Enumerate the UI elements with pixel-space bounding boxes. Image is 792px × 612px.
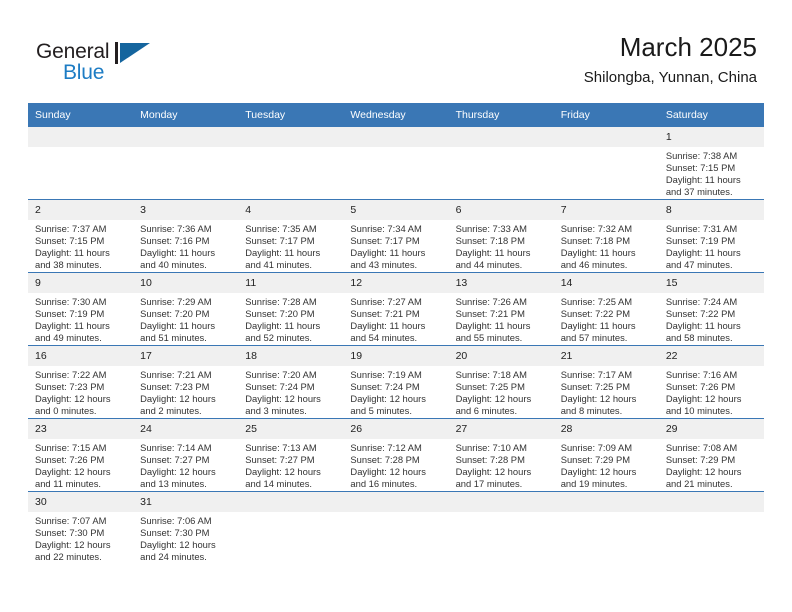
sunrise-text: Sunrise: 7:26 AM bbox=[456, 296, 549, 308]
day-details: Sunrise: 7:24 AMSunset: 7:22 PMDaylight:… bbox=[659, 293, 764, 344]
sunset-text: Sunset: 7:17 PM bbox=[350, 235, 443, 247]
calendar-day-cell[interactable]: 4Sunrise: 7:35 AMSunset: 7:17 PMDaylight… bbox=[238, 200, 343, 273]
sunrise-text: Sunrise: 7:27 AM bbox=[350, 296, 443, 308]
daylight-text-line1: Daylight: 11 hours bbox=[140, 247, 233, 259]
sunrise-text: Sunrise: 7:06 AM bbox=[140, 515, 233, 527]
daylight-text-line1: Daylight: 11 hours bbox=[245, 320, 338, 332]
sunset-text: Sunset: 7:18 PM bbox=[456, 235, 549, 247]
calendar-day-cell[interactable]: 8Sunrise: 7:31 AMSunset: 7:19 PMDaylight… bbox=[659, 200, 764, 273]
daylight-text-line2: and 0 minutes. bbox=[35, 405, 128, 417]
sunrise-text: Sunrise: 7:15 AM bbox=[35, 442, 128, 454]
sunrise-text: Sunrise: 7:10 AM bbox=[456, 442, 549, 454]
logo-text-blue: Blue bbox=[63, 61, 104, 85]
day-number: 7 bbox=[554, 200, 659, 220]
day-details: Sunrise: 7:21 AMSunset: 7:23 PMDaylight:… bbox=[133, 366, 238, 417]
sunset-text: Sunset: 7:24 PM bbox=[245, 381, 338, 393]
sunrise-text: Sunrise: 7:12 AM bbox=[350, 442, 443, 454]
calendar-day-cell[interactable]: 27Sunrise: 7:10 AMSunset: 7:28 PMDayligh… bbox=[449, 419, 554, 492]
day-details: Sunrise: 7:26 AMSunset: 7:21 PMDaylight:… bbox=[449, 293, 554, 344]
daylight-text-line1: Daylight: 11 hours bbox=[456, 247, 549, 259]
calendar-day-cell[interactable]: 19Sunrise: 7:19 AMSunset: 7:24 PMDayligh… bbox=[343, 346, 448, 419]
day-number: 25 bbox=[238, 419, 343, 439]
sunrise-text: Sunrise: 7:09 AM bbox=[561, 442, 654, 454]
sunset-text: Sunset: 7:29 PM bbox=[666, 454, 759, 466]
calendar-day-cell[interactable]: 24Sunrise: 7:14 AMSunset: 7:27 PMDayligh… bbox=[133, 419, 238, 492]
sunrise-text: Sunrise: 7:20 AM bbox=[245, 369, 338, 381]
day-number: 22 bbox=[659, 346, 764, 366]
sunrise-text: Sunrise: 7:18 AM bbox=[456, 369, 549, 381]
daylight-text-line2: and 11 minutes. bbox=[35, 478, 128, 490]
daylight-text-line2: and 38 minutes. bbox=[35, 259, 128, 271]
calendar-body: 1Sunrise: 7:38 AMSunset: 7:15 PMDaylight… bbox=[28, 127, 764, 564]
day-details: Sunrise: 7:07 AMSunset: 7:30 PMDaylight:… bbox=[28, 512, 133, 563]
sunrise-text: Sunrise: 7:35 AM bbox=[245, 223, 338, 235]
sunrise-text: Sunrise: 7:31 AM bbox=[666, 223, 759, 235]
day-number: 10 bbox=[133, 273, 238, 293]
day-number: 11 bbox=[238, 273, 343, 293]
daylight-text-line2: and 17 minutes. bbox=[456, 478, 549, 490]
daylight-text-line1: Daylight: 12 hours bbox=[350, 466, 443, 478]
sunrise-text: Sunrise: 7:22 AM bbox=[35, 369, 128, 381]
sunrise-text: Sunrise: 7:37 AM bbox=[35, 223, 128, 235]
calendar-day-cell-empty bbox=[449, 492, 554, 565]
sunrise-text: Sunrise: 7:07 AM bbox=[35, 515, 128, 527]
day-number: 24 bbox=[133, 419, 238, 439]
sunset-text: Sunset: 7:17 PM bbox=[245, 235, 338, 247]
calendar-day-cell[interactable]: 30Sunrise: 7:07 AMSunset: 7:30 PMDayligh… bbox=[28, 492, 133, 565]
day-details: Sunrise: 7:28 AMSunset: 7:20 PMDaylight:… bbox=[238, 293, 343, 344]
day-number: 30 bbox=[28, 492, 133, 512]
daylight-text-line1: Daylight: 11 hours bbox=[666, 247, 759, 259]
calendar-day-cell[interactable]: 10Sunrise: 7:29 AMSunset: 7:20 PMDayligh… bbox=[133, 273, 238, 346]
calendar-day-cell[interactable]: 26Sunrise: 7:12 AMSunset: 7:28 PMDayligh… bbox=[343, 419, 448, 492]
day-number bbox=[238, 127, 343, 147]
weekday-header-saturday: Saturday bbox=[659, 103, 764, 127]
daylight-text-line1: Daylight: 11 hours bbox=[245, 247, 338, 259]
sunset-text: Sunset: 7:26 PM bbox=[35, 454, 128, 466]
calendar-day-cell-empty bbox=[133, 127, 238, 200]
calendar-page: General Blue March 2025 Shilongba, Yunna… bbox=[0, 0, 792, 612]
sunrise-text: Sunrise: 7:17 AM bbox=[561, 369, 654, 381]
sunrise-text: Sunrise: 7:08 AM bbox=[666, 442, 759, 454]
page-title: March 2025 bbox=[584, 30, 757, 64]
calendar-day-cell[interactable]: 17Sunrise: 7:21 AMSunset: 7:23 PMDayligh… bbox=[133, 346, 238, 419]
sunset-text: Sunset: 7:27 PM bbox=[140, 454, 233, 466]
weekday-header-friday: Friday bbox=[554, 103, 659, 127]
daylight-text-line2: and 40 minutes. bbox=[140, 259, 233, 271]
day-details: Sunrise: 7:17 AMSunset: 7:25 PMDaylight:… bbox=[554, 366, 659, 417]
day-number: 8 bbox=[659, 200, 764, 220]
day-number: 27 bbox=[449, 419, 554, 439]
daylight-text-line1: Daylight: 11 hours bbox=[35, 247, 128, 259]
sunrise-text: Sunrise: 7:38 AM bbox=[666, 150, 759, 162]
daylight-text-line1: Daylight: 12 hours bbox=[350, 393, 443, 405]
sunset-text: Sunset: 7:29 PM bbox=[561, 454, 654, 466]
sunrise-text: Sunrise: 7:33 AM bbox=[456, 223, 549, 235]
daylight-text-line1: Daylight: 11 hours bbox=[350, 320, 443, 332]
calendar-day-cell[interactable]: 15Sunrise: 7:24 AMSunset: 7:22 PMDayligh… bbox=[659, 273, 764, 346]
day-number: 4 bbox=[238, 200, 343, 220]
daylight-text-line1: Daylight: 12 hours bbox=[140, 539, 233, 551]
day-details: Sunrise: 7:14 AMSunset: 7:27 PMDaylight:… bbox=[133, 439, 238, 490]
daylight-text-line2: and 21 minutes. bbox=[666, 478, 759, 490]
calendar-day-cell[interactable]: 25Sunrise: 7:13 AMSunset: 7:27 PMDayligh… bbox=[238, 419, 343, 492]
sunset-text: Sunset: 7:23 PM bbox=[140, 381, 233, 393]
day-details: Sunrise: 7:25 AMSunset: 7:22 PMDaylight:… bbox=[554, 293, 659, 344]
calendar-day-cell-empty bbox=[343, 492, 448, 565]
daylight-text-line2: and 52 minutes. bbox=[245, 332, 338, 344]
sunset-text: Sunset: 7:25 PM bbox=[561, 381, 654, 393]
day-number: 9 bbox=[28, 273, 133, 293]
daylight-text-line2: and 5 minutes. bbox=[350, 405, 443, 417]
daylight-text-line2: and 51 minutes. bbox=[140, 332, 233, 344]
calendar-day-cell[interactable]: 28Sunrise: 7:09 AMSunset: 7:29 PMDayligh… bbox=[554, 419, 659, 492]
day-number: 31 bbox=[133, 492, 238, 512]
daylight-text-line2: and 44 minutes. bbox=[456, 259, 549, 271]
sunset-text: Sunset: 7:27 PM bbox=[245, 454, 338, 466]
daylight-text-line2: and 55 minutes. bbox=[456, 332, 549, 344]
sunrise-text: Sunrise: 7:34 AM bbox=[350, 223, 443, 235]
sunset-text: Sunset: 7:20 PM bbox=[245, 308, 338, 320]
day-details: Sunrise: 7:33 AMSunset: 7:18 PMDaylight:… bbox=[449, 220, 554, 271]
sunrise-text: Sunrise: 7:36 AM bbox=[140, 223, 233, 235]
day-number bbox=[554, 127, 659, 147]
day-details: Sunrise: 7:27 AMSunset: 7:21 PMDaylight:… bbox=[343, 293, 448, 344]
sunset-text: Sunset: 7:25 PM bbox=[456, 381, 549, 393]
day-details: Sunrise: 7:06 AMSunset: 7:30 PMDaylight:… bbox=[133, 512, 238, 563]
day-details: Sunrise: 7:08 AMSunset: 7:29 PMDaylight:… bbox=[659, 439, 764, 490]
daylight-text-line1: Daylight: 12 hours bbox=[245, 393, 338, 405]
day-number: 28 bbox=[554, 419, 659, 439]
daylight-text-line1: Daylight: 11 hours bbox=[140, 320, 233, 332]
sunrise-text: Sunrise: 7:30 AM bbox=[35, 296, 128, 308]
daylight-text-line1: Daylight: 11 hours bbox=[561, 320, 654, 332]
day-number: 12 bbox=[343, 273, 448, 293]
page-subtitle: Shilongba, Yunnan, China bbox=[584, 67, 757, 89]
sunset-text: Sunset: 7:19 PM bbox=[666, 235, 759, 247]
day-details: Sunrise: 7:15 AMSunset: 7:26 PMDaylight:… bbox=[28, 439, 133, 490]
calendar-day-cell-empty bbox=[659, 492, 764, 565]
weekday-header-thursday: Thursday bbox=[449, 103, 554, 127]
day-number: 3 bbox=[133, 200, 238, 220]
daylight-text-line1: Daylight: 11 hours bbox=[35, 320, 128, 332]
weekday-header-wednesday: Wednesday bbox=[343, 103, 448, 127]
daylight-text-line2: and 13 minutes. bbox=[140, 478, 233, 490]
calendar-day-cell[interactable]: 2Sunrise: 7:37 AMSunset: 7:15 PMDaylight… bbox=[28, 200, 133, 273]
daylight-text-line2: and 46 minutes. bbox=[561, 259, 654, 271]
daylight-text-line1: Daylight: 12 hours bbox=[245, 466, 338, 478]
daylight-text-line2: and 8 minutes. bbox=[561, 405, 654, 417]
page-header: General Blue March 2025 Shilongba, Yunna… bbox=[0, 0, 792, 103]
day-number bbox=[133, 127, 238, 147]
daylight-text-line2: and 3 minutes. bbox=[245, 405, 338, 417]
calendar-day-cell[interactable]: 6Sunrise: 7:33 AMSunset: 7:18 PMDaylight… bbox=[449, 200, 554, 273]
calendar-day-cell-empty bbox=[554, 127, 659, 200]
calendar-day-cell-empty bbox=[449, 127, 554, 200]
daylight-text-line1: Daylight: 12 hours bbox=[561, 466, 654, 478]
daylight-text-line1: Daylight: 11 hours bbox=[456, 320, 549, 332]
daylight-text-line1: Daylight: 12 hours bbox=[666, 393, 759, 405]
daylight-text-line1: Daylight: 11 hours bbox=[666, 320, 759, 332]
daylight-text-line1: Daylight: 12 hours bbox=[140, 393, 233, 405]
sunrise-text: Sunrise: 7:28 AM bbox=[245, 296, 338, 308]
calendar-day-cell[interactable]: 1Sunrise: 7:38 AMSunset: 7:15 PMDaylight… bbox=[659, 127, 764, 200]
calendar-day-cell[interactable]: 9Sunrise: 7:30 AMSunset: 7:19 PMDaylight… bbox=[28, 273, 133, 346]
calendar-week-row: 2Sunrise: 7:37 AMSunset: 7:15 PMDaylight… bbox=[28, 200, 764, 273]
day-details: Sunrise: 7:38 AMSunset: 7:15 PMDaylight:… bbox=[659, 147, 764, 198]
daylight-text-line1: Daylight: 12 hours bbox=[561, 393, 654, 405]
daylight-text-line2: and 58 minutes. bbox=[666, 332, 759, 344]
calendar-grid: Sunday Monday Tuesday Wednesday Thursday… bbox=[28, 103, 764, 564]
day-details: Sunrise: 7:22 AMSunset: 7:23 PMDaylight:… bbox=[28, 366, 133, 417]
daylight-text-line1: Daylight: 12 hours bbox=[35, 539, 128, 551]
daylight-text-line2: and 24 minutes. bbox=[140, 551, 233, 563]
day-number bbox=[449, 492, 554, 512]
day-number: 17 bbox=[133, 346, 238, 366]
calendar-day-cell[interactable]: 13Sunrise: 7:26 AMSunset: 7:21 PMDayligh… bbox=[449, 273, 554, 346]
calendar-day-cell[interactable]: 16Sunrise: 7:22 AMSunset: 7:23 PMDayligh… bbox=[28, 346, 133, 419]
day-number: 1 bbox=[659, 127, 764, 147]
sunset-text: Sunset: 7:22 PM bbox=[561, 308, 654, 320]
weekday-header-monday: Monday bbox=[133, 103, 238, 127]
daylight-text-line2: and 49 minutes. bbox=[35, 332, 128, 344]
calendar-day-cell-empty bbox=[554, 492, 659, 565]
calendar-day-cell-empty bbox=[238, 492, 343, 565]
calendar-week-row: 1Sunrise: 7:38 AMSunset: 7:15 PMDaylight… bbox=[28, 127, 764, 200]
day-details: Sunrise: 7:35 AMSunset: 7:17 PMDaylight:… bbox=[238, 220, 343, 271]
day-details: Sunrise: 7:10 AMSunset: 7:28 PMDaylight:… bbox=[449, 439, 554, 490]
day-details: Sunrise: 7:19 AMSunset: 7:24 PMDaylight:… bbox=[343, 366, 448, 417]
sunset-text: Sunset: 7:26 PM bbox=[666, 381, 759, 393]
calendar-week-row: 30Sunrise: 7:07 AMSunset: 7:30 PMDayligh… bbox=[28, 492, 764, 565]
day-number: 20 bbox=[449, 346, 554, 366]
sunset-text: Sunset: 7:19 PM bbox=[35, 308, 128, 320]
calendar-day-cell[interactable]: 5Sunrise: 7:34 AMSunset: 7:17 PMDaylight… bbox=[343, 200, 448, 273]
calendar-day-cell[interactable]: 21Sunrise: 7:17 AMSunset: 7:25 PMDayligh… bbox=[554, 346, 659, 419]
day-number: 15 bbox=[659, 273, 764, 293]
day-number: 23 bbox=[28, 419, 133, 439]
sunset-text: Sunset: 7:30 PM bbox=[35, 527, 128, 539]
calendar-day-cell[interactable]: 23Sunrise: 7:15 AMSunset: 7:26 PMDayligh… bbox=[28, 419, 133, 492]
calendar-day-cell[interactable]: 14Sunrise: 7:25 AMSunset: 7:22 PMDayligh… bbox=[554, 273, 659, 346]
day-details: Sunrise: 7:32 AMSunset: 7:18 PMDaylight:… bbox=[554, 220, 659, 271]
calendar-day-cell[interactable]: 11Sunrise: 7:28 AMSunset: 7:20 PMDayligh… bbox=[238, 273, 343, 346]
day-number bbox=[238, 492, 343, 512]
day-details: Sunrise: 7:29 AMSunset: 7:20 PMDaylight:… bbox=[133, 293, 238, 344]
sunset-text: Sunset: 7:21 PM bbox=[456, 308, 549, 320]
sunset-text: Sunset: 7:15 PM bbox=[666, 162, 759, 174]
day-number: 18 bbox=[238, 346, 343, 366]
daylight-text-line2: and 2 minutes. bbox=[140, 405, 233, 417]
sunrise-text: Sunrise: 7:13 AM bbox=[245, 442, 338, 454]
daylight-text-line2: and 19 minutes. bbox=[561, 478, 654, 490]
calendar-day-cell-empty bbox=[343, 127, 448, 200]
day-details: Sunrise: 7:34 AMSunset: 7:17 PMDaylight:… bbox=[343, 220, 448, 271]
daylight-text-line2: and 37 minutes. bbox=[666, 186, 759, 198]
sunset-text: Sunset: 7:24 PM bbox=[350, 381, 443, 393]
day-number: 14 bbox=[554, 273, 659, 293]
daylight-text-line2: and 41 minutes. bbox=[245, 259, 338, 271]
daylight-text-line1: Daylight: 11 hours bbox=[666, 174, 759, 186]
sunrise-text: Sunrise: 7:16 AM bbox=[666, 369, 759, 381]
daylight-text-line2: and 14 minutes. bbox=[245, 478, 338, 490]
day-number: 19 bbox=[343, 346, 448, 366]
day-details: Sunrise: 7:36 AMSunset: 7:16 PMDaylight:… bbox=[133, 220, 238, 271]
daylight-text-line1: Daylight: 12 hours bbox=[456, 466, 549, 478]
sunrise-text: Sunrise: 7:14 AM bbox=[140, 442, 233, 454]
daylight-text-line1: Daylight: 11 hours bbox=[561, 247, 654, 259]
weekday-header-sunday: Sunday bbox=[28, 103, 133, 127]
sunset-text: Sunset: 7:18 PM bbox=[561, 235, 654, 247]
day-details: Sunrise: 7:13 AMSunset: 7:27 PMDaylight:… bbox=[238, 439, 343, 490]
day-details: Sunrise: 7:12 AMSunset: 7:28 PMDaylight:… bbox=[343, 439, 448, 490]
sunset-text: Sunset: 7:20 PM bbox=[140, 308, 233, 320]
calendar-week-row: 23Sunrise: 7:15 AMSunset: 7:26 PMDayligh… bbox=[28, 419, 764, 492]
calendar-day-cell-empty bbox=[28, 127, 133, 200]
daylight-text-line1: Daylight: 12 hours bbox=[666, 466, 759, 478]
logo-vertical-bar-icon bbox=[115, 42, 118, 64]
sunset-text: Sunset: 7:28 PM bbox=[350, 454, 443, 466]
day-details: Sunrise: 7:37 AMSunset: 7:15 PMDaylight:… bbox=[28, 220, 133, 271]
day-details: Sunrise: 7:18 AMSunset: 7:25 PMDaylight:… bbox=[449, 366, 554, 417]
day-details: Sunrise: 7:16 AMSunset: 7:26 PMDaylight:… bbox=[659, 366, 764, 417]
day-details: Sunrise: 7:30 AMSunset: 7:19 PMDaylight:… bbox=[28, 293, 133, 344]
day-number: 29 bbox=[659, 419, 764, 439]
daylight-text-line2: and 6 minutes. bbox=[456, 405, 549, 417]
day-number: 13 bbox=[449, 273, 554, 293]
daylight-text-line2: and 57 minutes. bbox=[561, 332, 654, 344]
day-details: Sunrise: 7:31 AMSunset: 7:19 PMDaylight:… bbox=[659, 220, 764, 271]
sunrise-text: Sunrise: 7:29 AM bbox=[140, 296, 233, 308]
day-number bbox=[554, 492, 659, 512]
calendar-day-cell[interactable]: 20Sunrise: 7:18 AMSunset: 7:25 PMDayligh… bbox=[449, 346, 554, 419]
day-number: 16 bbox=[28, 346, 133, 366]
daylight-text-line2: and 47 minutes. bbox=[666, 259, 759, 271]
sunrise-text: Sunrise: 7:21 AM bbox=[140, 369, 233, 381]
sunset-text: Sunset: 7:28 PM bbox=[456, 454, 549, 466]
calendar-day-cell[interactable]: 31Sunrise: 7:06 AMSunset: 7:30 PMDayligh… bbox=[133, 492, 238, 565]
sunset-text: Sunset: 7:22 PM bbox=[666, 308, 759, 320]
calendar-day-cell[interactable]: 18Sunrise: 7:20 AMSunset: 7:24 PMDayligh… bbox=[238, 346, 343, 419]
daylight-text-line2: and 43 minutes. bbox=[350, 259, 443, 271]
daylight-text-line1: Daylight: 11 hours bbox=[350, 247, 443, 259]
calendar-header-row: Sunday Monday Tuesday Wednesday Thursday… bbox=[28, 103, 764, 127]
sunrise-text: Sunrise: 7:32 AM bbox=[561, 223, 654, 235]
calendar-week-row: 16Sunrise: 7:22 AMSunset: 7:23 PMDayligh… bbox=[28, 346, 764, 419]
calendar-day-cell[interactable]: 3Sunrise: 7:36 AMSunset: 7:16 PMDaylight… bbox=[133, 200, 238, 273]
weekday-header-tuesday: Tuesday bbox=[238, 103, 343, 127]
daylight-text-line1: Daylight: 12 hours bbox=[140, 466, 233, 478]
daylight-text-line1: Daylight: 12 hours bbox=[35, 393, 128, 405]
day-number bbox=[449, 127, 554, 147]
sunset-text: Sunset: 7:23 PM bbox=[35, 381, 128, 393]
daylight-text-line2: and 54 minutes. bbox=[350, 332, 443, 344]
daylight-text-line1: Daylight: 12 hours bbox=[35, 466, 128, 478]
sunset-text: Sunset: 7:30 PM bbox=[140, 527, 233, 539]
day-details: Sunrise: 7:09 AMSunset: 7:29 PMDaylight:… bbox=[554, 439, 659, 490]
day-number: 26 bbox=[343, 419, 448, 439]
calendar-week-row: 9Sunrise: 7:30 AMSunset: 7:19 PMDaylight… bbox=[28, 273, 764, 346]
day-details: Sunrise: 7:20 AMSunset: 7:24 PMDaylight:… bbox=[238, 366, 343, 417]
general-blue-logo[interactable]: General Blue bbox=[36, 40, 176, 90]
day-number: 6 bbox=[449, 200, 554, 220]
title-block: March 2025 Shilongba, Yunnan, China bbox=[584, 30, 757, 89]
sunset-text: Sunset: 7:21 PM bbox=[350, 308, 443, 320]
calendar-day-cell[interactable]: 7Sunrise: 7:32 AMSunset: 7:18 PMDaylight… bbox=[554, 200, 659, 273]
sunrise-text: Sunrise: 7:24 AM bbox=[666, 296, 759, 308]
sunrise-text: Sunrise: 7:19 AM bbox=[350, 369, 443, 381]
sunrise-text: Sunrise: 7:25 AM bbox=[561, 296, 654, 308]
day-number bbox=[659, 492, 764, 512]
day-number bbox=[343, 127, 448, 147]
daylight-text-line2: and 16 minutes. bbox=[350, 478, 443, 490]
daylight-text-line2: and 10 minutes. bbox=[666, 405, 759, 417]
daylight-text-line1: Daylight: 12 hours bbox=[456, 393, 549, 405]
sunset-text: Sunset: 7:16 PM bbox=[140, 235, 233, 247]
calendar-day-cell[interactable]: 22Sunrise: 7:16 AMSunset: 7:26 PMDayligh… bbox=[659, 346, 764, 419]
calendar-day-cell-empty bbox=[238, 127, 343, 200]
day-number: 2 bbox=[28, 200, 133, 220]
day-number: 5 bbox=[343, 200, 448, 220]
day-number bbox=[28, 127, 133, 147]
day-number: 21 bbox=[554, 346, 659, 366]
day-number bbox=[343, 492, 448, 512]
logo-triangle-icon bbox=[120, 43, 150, 63]
calendar-day-cell[interactable]: 29Sunrise: 7:08 AMSunset: 7:29 PMDayligh… bbox=[659, 419, 764, 492]
calendar-day-cell[interactable]: 12Sunrise: 7:27 AMSunset: 7:21 PMDayligh… bbox=[343, 273, 448, 346]
sunset-text: Sunset: 7:15 PM bbox=[35, 235, 128, 247]
daylight-text-line2: and 22 minutes. bbox=[35, 551, 128, 563]
